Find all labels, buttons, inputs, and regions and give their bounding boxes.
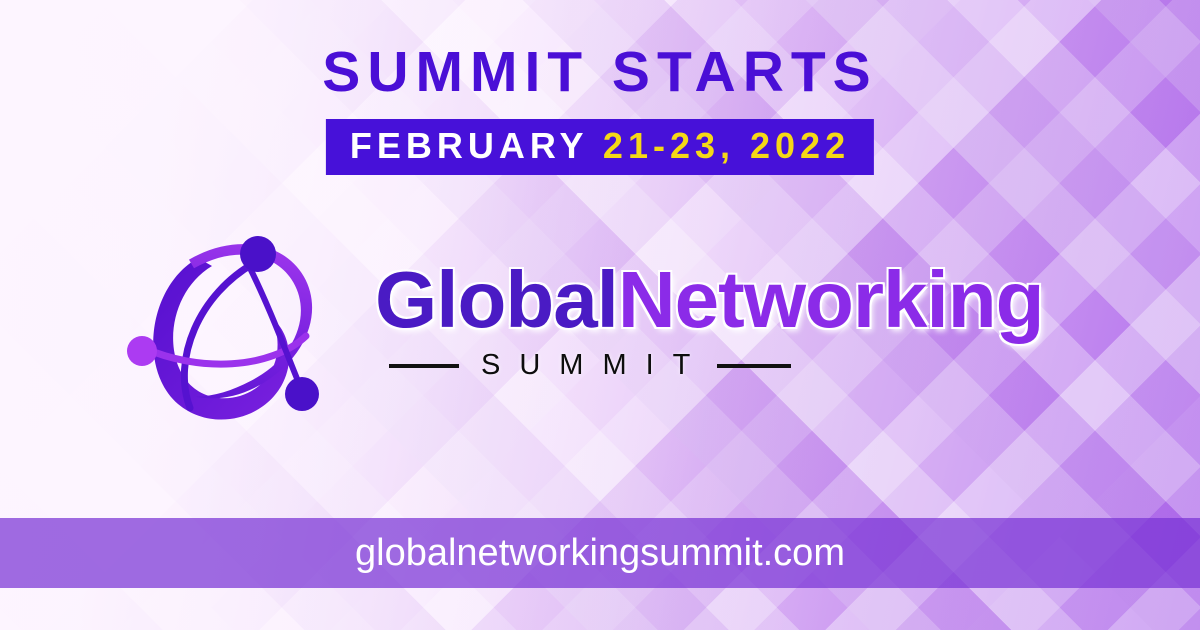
promo-banner: SUMMIT STARTS FEBRUARY 21-23, 2022: [0, 0, 1200, 630]
date-days: 21-23, 2022: [603, 125, 850, 166]
page-title: SUMMIT STARTS: [0, 44, 1200, 101]
footer-bar: globalnetworkingsummit.com: [0, 518, 1200, 588]
wordmark-subtitle-row: SUMMIT: [375, 351, 1075, 380]
date-month: FEBRUARY: [350, 125, 603, 166]
logo-lockup: GlobalNetworking SUMMIT: [120, 214, 1080, 429]
date-badge: FEBRUARY 21-23, 2022: [326, 119, 874, 175]
wordmark-subtitle: SUMMIT: [481, 351, 709, 380]
wordmark-global: Global: [375, 255, 618, 344]
rule-left-icon: [389, 364, 459, 368]
website-url[interactable]: globalnetworkingsummit.com: [355, 534, 845, 572]
wordmark: GlobalNetworking SUMMIT: [375, 260, 1075, 380]
wordmark-networking: Networking: [618, 255, 1044, 344]
rule-right-icon: [717, 364, 791, 368]
wordmark-title: GlobalNetworking: [375, 260, 1075, 340]
atom-orbit-logo-icon: [120, 220, 330, 425]
